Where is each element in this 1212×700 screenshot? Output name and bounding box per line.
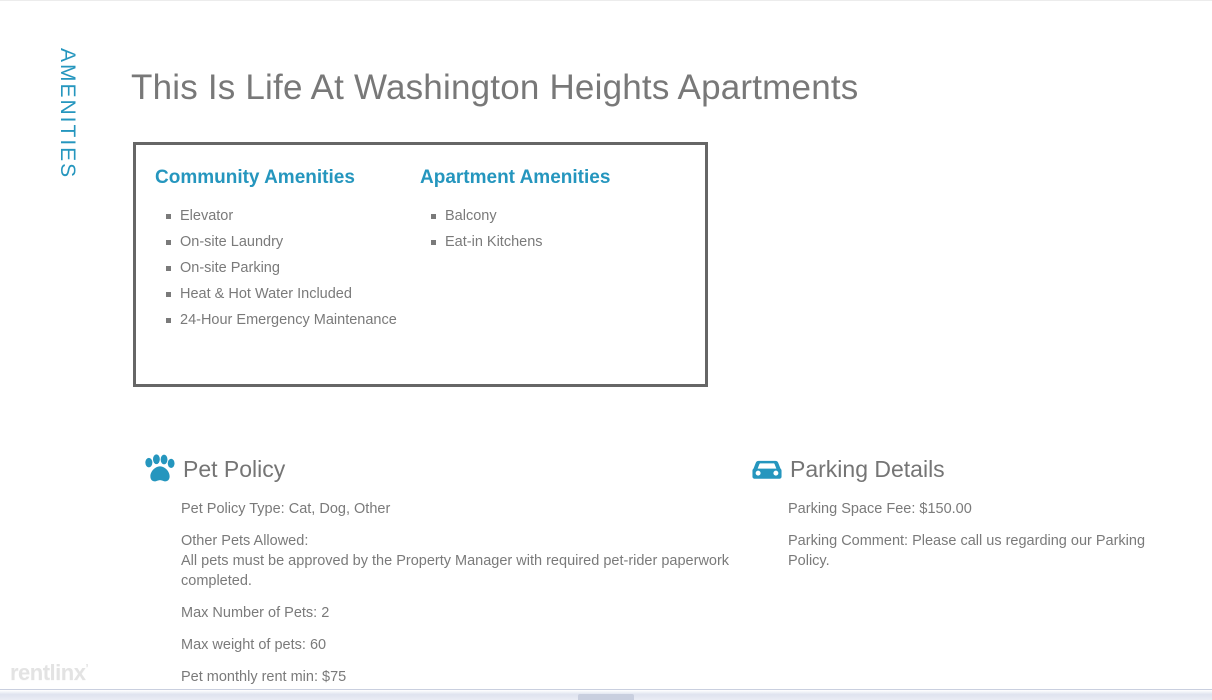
pet-policy-type: Pet Policy Type: Cat, Dog, Other xyxy=(181,499,741,519)
community-amenities-heading: Community Amenities xyxy=(155,167,420,190)
pet-policy-header: Pet Policy xyxy=(141,449,741,491)
pet-policy-section: Pet Policy Pet Policy Type: Cat, Dog, Ot… xyxy=(141,449,741,699)
bullet-icon xyxy=(166,292,171,297)
parking-space-fee: Parking Space Fee: $150.00 xyxy=(788,499,1178,519)
rentlinx-watermark: rentlinx’ xyxy=(10,660,88,686)
apartment-amenities-column: Apartment Amenities Balcony Eat-in Kitch… xyxy=(420,167,680,336)
parking-details-header: Parking Details xyxy=(748,449,1178,491)
apartment-amenities-list: Balcony Eat-in Kitchens xyxy=(420,206,680,252)
watermark-text: rentlinx xyxy=(10,660,85,685)
community-amenities-column: Community Amenities Elevator On-site Lau… xyxy=(155,167,420,336)
bullet-icon xyxy=(166,266,171,271)
car-icon xyxy=(748,453,786,487)
list-item-label: On-site Laundry xyxy=(180,234,283,250)
bullet-icon xyxy=(431,240,436,245)
list-item: 24-Hour Emergency Maintenance xyxy=(155,310,420,330)
pet-policy-body: Pet Policy Type: Cat, Dog, Other Other P… xyxy=(141,499,741,687)
list-item-label: 24-Hour Emergency Maintenance xyxy=(180,312,397,328)
bullet-icon xyxy=(166,214,171,219)
pet-policy-title: Pet Policy xyxy=(183,457,285,482)
bullet-icon xyxy=(166,318,171,323)
list-item-label: On-site Parking xyxy=(180,260,280,276)
bullet-icon xyxy=(431,214,436,219)
amenities-box: Community Amenities Elevator On-site Lau… xyxy=(133,142,708,387)
parking-details-section: Parking Details Parking Space Fee: $150.… xyxy=(748,449,1178,583)
community-amenities-list: Elevator On-site Laundry On-site Parking… xyxy=(155,206,420,330)
watermark-tm: ’ xyxy=(85,663,88,675)
bullet-icon xyxy=(166,240,171,245)
footer-scroll-nub[interactable] xyxy=(578,694,634,700)
section-side-label: AMENITIES xyxy=(22,48,78,179)
paw-print-icon xyxy=(141,453,179,487)
pet-policy-max-weight: Max weight of pets: 60 xyxy=(181,635,741,655)
list-item: On-site Parking xyxy=(155,258,420,278)
pet-policy-other-pets: Other Pets Allowed: All pets must be app… xyxy=(181,531,741,591)
list-item-label: Balcony xyxy=(445,208,497,224)
parking-details-title: Parking Details xyxy=(790,457,945,482)
parking-details-body: Parking Space Fee: $150.00 Parking Comme… xyxy=(748,499,1178,571)
list-item: Heat & Hot Water Included xyxy=(155,284,420,304)
list-item-label: Heat & Hot Water Included xyxy=(180,286,352,302)
parking-comment: Parking Comment: Please call us regardin… xyxy=(788,531,1178,571)
apartment-amenities-heading: Apartment Amenities xyxy=(420,167,680,190)
pet-policy-max-number: Max Number of Pets: 2 xyxy=(181,603,741,623)
pet-policy-monthly-rent-min: Pet monthly rent min: $75 xyxy=(181,667,741,687)
list-item: On-site Laundry xyxy=(155,232,420,252)
page-title: This Is Life At Washington Heights Apart… xyxy=(131,67,859,109)
list-item: Elevator xyxy=(155,206,420,226)
list-item-label: Elevator xyxy=(180,208,233,224)
list-item-label: Eat-in Kitchens xyxy=(445,234,543,250)
amenities-page: AMENITIES This Is Life At Washington Hei… xyxy=(0,0,1212,700)
list-item: Balcony xyxy=(420,206,680,226)
list-item: Eat-in Kitchens xyxy=(420,232,680,252)
top-divider xyxy=(0,0,1212,1)
footer-bar xyxy=(0,689,1212,700)
